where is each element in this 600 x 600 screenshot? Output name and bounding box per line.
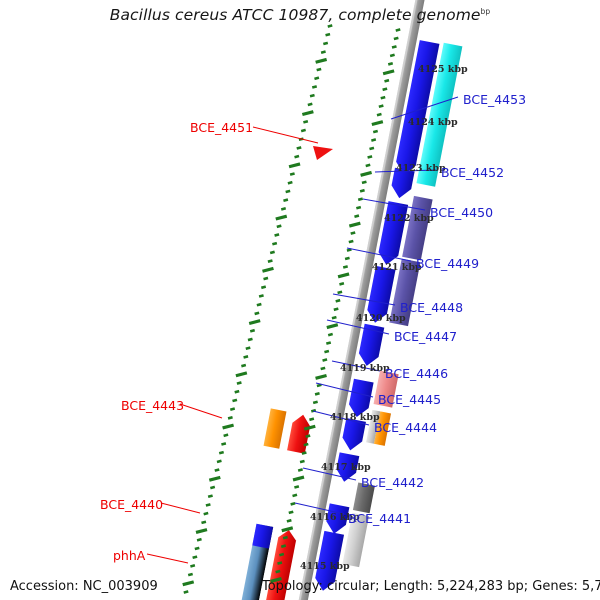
ruler-minor-tick: [369, 148, 374, 149]
ruler-minor-tick: [303, 121, 308, 122]
gene-label-bce_4450[interactable]: BCE_4450: [430, 205, 493, 220]
ruler-minor-tick: [275, 234, 280, 235]
ruler-minor-tick: [388, 63, 393, 64]
ruler-minor-tick: [306, 436, 311, 437]
ruler-minor-tick: [255, 313, 260, 314]
ruler-minor-tick: [270, 252, 275, 253]
ruler-minor-tick: [313, 402, 318, 403]
ruler-minor-tick: [237, 382, 242, 383]
ruler-minor-tick: [204, 513, 209, 514]
ruler-minor-tick: [195, 548, 200, 549]
ruler-minor-tick: [283, 537, 288, 538]
ruler-minor-tick: [308, 104, 313, 105]
ruler-minor-tick: [379, 106, 384, 107]
ruler-minor-tick: [360, 190, 365, 191]
ruler-minor-tick: [323, 359, 328, 360]
ruler-major-tick: [349, 223, 360, 226]
ruler-major-tick: [223, 425, 234, 428]
ruler-tick-label: 4123 kbp: [396, 163, 446, 174]
label-leader-line: [147, 554, 188, 563]
ruler-minor-tick: [326, 342, 331, 343]
ruler-minor-tick: [328, 334, 333, 335]
ruler-minor-tick: [272, 243, 277, 244]
ruler-tick-label: 4124 kbp: [408, 117, 458, 128]
ruler-minor-tick: [317, 69, 322, 70]
ruler-minor-tick: [351, 232, 356, 233]
label-leader-line: [180, 404, 222, 418]
ruler-major-tick: [338, 274, 349, 277]
ruler-minor-tick: [317, 385, 322, 386]
ruler-minor-tick: [248, 339, 253, 340]
ruler-minor-tick: [321, 368, 326, 369]
ruler-minor-tick: [241, 365, 246, 366]
ruler-minor-tick: [201, 522, 206, 523]
ruler-major-tick: [289, 164, 300, 167]
ruler-minor-tick: [343, 266, 348, 267]
ruler-minor-tick: [338, 292, 343, 293]
gene-label-bce_4447[interactable]: BCE_4447: [394, 329, 457, 344]
ruler-minor-tick: [301, 130, 306, 131]
ruler-minor-tick: [295, 156, 300, 157]
ruler-tick-label: 4120 kbp: [356, 313, 406, 324]
ruler-minor-tick: [289, 512, 294, 513]
ruler-minor-tick: [268, 261, 273, 262]
ruler-minor-tick: [257, 304, 262, 305]
ruler-minor-tick: [228, 417, 233, 418]
gene-label-bce_4443[interactable]: BCE_4443: [121, 398, 184, 413]
ruler-minor-tick: [221, 443, 226, 444]
status-bar: Accession: NC_003909 Topology: circular;…: [0, 574, 600, 600]
ruler-minor-tick: [315, 393, 320, 394]
ruler-minor-tick: [310, 95, 315, 96]
ruler-minor-tick: [293, 495, 298, 496]
ruler-major-tick: [293, 477, 304, 480]
ruler-minor-tick: [339, 283, 344, 284]
ruler-minor-tick: [328, 25, 333, 26]
ruler-minor-tick: [294, 486, 299, 487]
gene-label-bce_4451[interactable]: BCE_4451: [190, 120, 253, 135]
ruler-tick-label: 4125 kbp: [418, 64, 468, 75]
ruler-major-tick: [276, 216, 287, 219]
ruler-major-tick: [327, 325, 338, 328]
ruler-minor-tick: [366, 165, 371, 166]
ruler-minor-tick: [368, 156, 373, 157]
gene-label-bce_4445[interactable]: BCE_4445: [378, 392, 441, 407]
ruler-minor-tick: [197, 539, 202, 540]
ruler-minor-tick: [358, 199, 363, 200]
ruler-minor-tick: [324, 351, 329, 352]
selection-arrow[interactable]: [313, 146, 333, 160]
ruler-minor-tick: [377, 114, 382, 115]
ruler-minor-tick: [193, 557, 198, 558]
ruler-major-tick: [372, 122, 383, 125]
ruler-major-tick: [316, 59, 327, 62]
ruler-minor-tick: [230, 409, 235, 410]
gene-label-bce_4453[interactable]: BCE_4453: [463, 92, 526, 107]
ruler-minor-tick: [345, 258, 350, 259]
ruler-minor-tick: [321, 52, 326, 53]
gene-label-bce_4452[interactable]: BCE_4452: [441, 165, 504, 180]
ruler-major-tick: [282, 528, 293, 531]
ruler-minor-tick: [314, 78, 319, 79]
ruler-major-tick: [361, 172, 372, 175]
ruler-minor-tick: [235, 391, 240, 392]
ruler-minor-tick: [334, 309, 339, 310]
ruler-minor-tick: [287, 520, 292, 521]
ruler-minor-tick: [326, 34, 331, 35]
ruler-lane-left: [183, 25, 333, 592]
ruler-tick-label: 4115 kbp: [300, 561, 350, 572]
ruler-minor-tick: [371, 139, 376, 140]
genome-map-canvas[interactable]: [0, 0, 600, 600]
ruler-major-tick: [262, 268, 273, 271]
ruler-minor-tick: [246, 348, 251, 349]
gene-label-bce_4446[interactable]: BCE_4446: [385, 366, 448, 381]
page-title: Bacillus cereus ATCC 10987, complete gen…: [0, 6, 600, 24]
ruler-minor-tick: [208, 496, 213, 497]
ruler-tick-label: 4118 kbp: [330, 412, 380, 423]
gene-label-bce_4449[interactable]: BCE_4449: [416, 256, 479, 271]
ruler-minor-tick: [349, 241, 354, 242]
ruler-minor-tick: [283, 200, 288, 201]
gene-block[interactable]: [264, 408, 287, 448]
ruler-minor-tick: [381, 97, 386, 98]
ruler-minor-tick: [276, 571, 281, 572]
ruler-major-tick: [196, 530, 207, 533]
ruler-minor-tick: [281, 208, 286, 209]
ruler-tick-label: 4121 kbp: [372, 262, 422, 273]
ruler-tick-label: 4117 kbp: [321, 462, 371, 473]
ruler-minor-tick: [332, 317, 337, 318]
ruler-major-tick: [209, 477, 220, 480]
ruler-major-tick: [249, 321, 260, 324]
label-leader-line: [253, 127, 318, 143]
ruler-tick-label: 4122 kbp: [384, 213, 434, 224]
gene-label-bce_4448[interactable]: BCE_4448: [400, 300, 463, 315]
ruler-minor-tick: [302, 452, 307, 453]
ruler-major-tick: [236, 373, 247, 376]
ruler-minor-tick: [286, 191, 291, 192]
ruler-minor-tick: [281, 546, 286, 547]
ruler-minor-tick: [354, 216, 359, 217]
gene-label-bce_4440[interactable]: BCE_4440: [100, 497, 163, 512]
ruler-minor-tick: [190, 565, 195, 566]
gene-label-bce_4441[interactable]: BCE_4441: [348, 511, 411, 526]
ruler-minor-tick: [264, 278, 269, 279]
ruler-minor-tick: [250, 330, 255, 331]
ruler-minor-tick: [219, 452, 224, 453]
ruler-minor-tick: [232, 400, 237, 401]
ruler-minor-tick: [291, 503, 296, 504]
ruler-minor-tick: [392, 46, 397, 47]
topology-text: Topology: circular; Length: 5,224,283 bp…: [262, 579, 600, 594]
ruler-minor-tick: [323, 43, 328, 44]
ruler-minor-tick: [362, 182, 367, 183]
ruler-minor-tick: [394, 38, 399, 39]
ruler-minor-tick: [217, 461, 222, 462]
ruler-minor-tick: [279, 554, 284, 555]
ruler-minor-tick: [347, 249, 352, 250]
label-leader-line: [347, 248, 411, 261]
ruler-minor-tick: [259, 295, 264, 296]
ruler-minor-tick: [356, 207, 361, 208]
ruler-minor-tick: [298, 469, 303, 470]
ruler-minor-tick: [384, 80, 389, 81]
ruler-minor-tick: [277, 226, 282, 227]
ruler-minor-tick: [396, 29, 401, 30]
ruler-major-tick: [383, 71, 394, 74]
ruler-minor-tick: [304, 444, 309, 445]
page-title-superscript: bp: [481, 7, 491, 16]
gene-block[interactable]: [357, 324, 384, 368]
page-title-text: Bacillus cereus ATCC 10987, complete gen…: [110, 6, 481, 24]
ruler-minor-tick: [390, 55, 395, 56]
ruler-major-tick: [316, 375, 327, 378]
genome-viewer-window: Bacillus cereus ATCC 10987, complete gen…: [0, 0, 600, 600]
ruler-minor-tick: [309, 419, 314, 420]
ruler-minor-tick: [261, 287, 266, 288]
ruler-minor-tick: [373, 131, 378, 132]
ruler-tick-label: 4119 kbp: [340, 363, 390, 374]
ruler-minor-tick: [290, 173, 295, 174]
gene-block[interactable]: [287, 413, 312, 454]
ruler-major-tick: [302, 112, 313, 115]
ruler-minor-tick: [383, 89, 388, 90]
ruler-minor-tick: [312, 86, 317, 87]
gene-label-bce_4442[interactable]: BCE_4442: [361, 475, 424, 490]
accession-text: Accession: NC_003909: [10, 579, 158, 594]
ruler-minor-tick: [210, 487, 215, 488]
label-leader-line: [161, 503, 200, 513]
ruler-minor-tick: [336, 300, 341, 301]
ruler-minor-tick: [206, 504, 211, 505]
ruler-minor-tick: [215, 470, 220, 471]
ruler-minor-tick: [244, 356, 249, 357]
ruler-minor-tick: [288, 182, 293, 183]
ruler-minor-tick: [224, 435, 229, 436]
ruler-minor-tick: [278, 562, 283, 563]
gene-label-phha[interactable]: phhA: [113, 548, 145, 563]
ruler-minor-tick: [300, 461, 305, 462]
ruler-minor-tick: [297, 147, 302, 148]
gene-label-bce_4444[interactable]: BCE_4444: [374, 420, 437, 435]
